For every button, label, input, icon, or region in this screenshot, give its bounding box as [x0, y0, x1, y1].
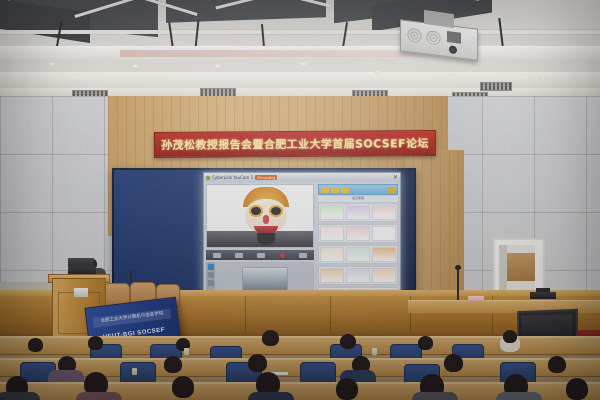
effect-thumbnail[interactable] — [372, 205, 396, 220]
ceiling-truss-rail — [0, 30, 600, 34]
doorway-interior-view — [505, 253, 535, 281]
av-equipment — [530, 292, 556, 299]
app-title-text: CyberLink YouCam 5 — [212, 175, 253, 180]
drink-cup — [184, 348, 189, 355]
audience-shoulders — [496, 392, 542, 400]
thumbnail-row[interactable] — [318, 266, 398, 285]
effect-thumbnail[interactable] — [346, 226, 370, 241]
downlight — [132, 64, 139, 68]
downlight — [214, 64, 221, 68]
effect-thumbnail[interactable] — [346, 205, 370, 220]
effect-thumbnail[interactable] — [346, 247, 370, 262]
projected-app-window: CyberLink YouCam 5 Recording ✕ — [203, 172, 401, 298]
av-equipment-top — [536, 288, 550, 292]
app-logo-icon — [206, 176, 210, 180]
library-tab-frames[interactable] — [208, 272, 214, 278]
downlight — [300, 62, 307, 66]
close-icon[interactable]: ✕ — [393, 175, 398, 181]
audience-head — [548, 356, 566, 373]
audience-head — [164, 356, 182, 373]
screen-bezel-right — [400, 170, 412, 298]
audience-head — [503, 330, 517, 343]
audience-shoulders — [0, 392, 40, 400]
search-bar[interactable] — [318, 184, 398, 195]
library-tab-effects[interactable] — [208, 264, 214, 270]
audience-shoulders — [76, 392, 122, 400]
app-right-column: 最近使用 — [316, 182, 400, 297]
effect-thumbnail[interactable] — [320, 247, 344, 262]
app-body: 最近使用 — [204, 182, 400, 297]
effect-thumbnail[interactable] — [372, 268, 396, 283]
ceiling-hanger-rod — [195, 20, 200, 48]
thumbnail-row[interactable] — [318, 245, 398, 264]
table-microphone-stem — [457, 268, 459, 300]
thumbnail-row[interactable] — [318, 224, 398, 243]
projector-panel — [447, 31, 461, 44]
ceiling-hanger-rod — [342, 22, 348, 48]
snapshot-icon[interactable] — [213, 253, 221, 258]
downlight — [374, 70, 381, 74]
table-papers — [468, 296, 484, 301]
effect-thumbnail[interactable] — [372, 247, 396, 262]
audience-head — [262, 330, 279, 346]
effects-icon[interactable] — [235, 253, 243, 258]
capture-icon[interactable] — [257, 253, 265, 258]
mask-nose — [263, 215, 269, 224]
light-fixture — [480, 82, 512, 91]
record-icon[interactable] — [280, 253, 285, 258]
downlight — [48, 62, 55, 66]
audience-head — [418, 336, 433, 350]
downlight — [448, 74, 455, 78]
audience-shoulders — [248, 392, 294, 400]
lecture-hall-photo: 孙茂松教授报告会暨合肥工业大学首届SOCSEF论坛 CyberLink YouC… — [0, 0, 600, 400]
audience-head — [340, 334, 356, 349]
microphone-icon — [455, 265, 461, 270]
ceiling-hanger-rod — [261, 24, 265, 48]
mask-eye-left — [251, 207, 261, 215]
projector-vent-icon — [407, 27, 422, 44]
stage-paper — [74, 288, 88, 297]
drink-cup — [132, 368, 137, 375]
app-left-column — [204, 182, 316, 297]
projector-lens-icon — [449, 45, 457, 54]
podium-microphone — [130, 270, 132, 282]
library-tab-filters[interactable] — [208, 280, 214, 286]
audience-head — [444, 354, 463, 372]
thumbnail-row[interactable] — [318, 203, 398, 222]
audience-head — [88, 336, 103, 350]
webcam-preview — [206, 184, 314, 248]
banner-text: 孙茂松教授报告会暨合肥工业大学首届SOCSEF论坛 — [161, 135, 429, 153]
effect-thumbnail[interactable] — [320, 226, 344, 241]
audience-seat — [120, 362, 156, 384]
audience-seat — [300, 362, 336, 384]
audience-head — [566, 378, 588, 400]
audience-head — [28, 338, 43, 352]
audience-head — [336, 378, 358, 400]
search-icon[interactable] — [321, 187, 329, 193]
effect-thumbnail[interactable] — [320, 268, 344, 283]
face-mask-effect — [239, 187, 293, 245]
camera-controls-bar[interactable] — [206, 250, 314, 260]
mask-chin — [257, 233, 275, 245]
effect-thumbnail[interactable] — [372, 226, 396, 241]
ceiling-hanger-rod — [168, 22, 174, 48]
effect-thumbnail[interactable] — [320, 205, 344, 220]
event-banner: 孙茂松教授报告会暨合肥工业大学首届SOCSEF论坛 — [154, 130, 436, 158]
mask-eye-right — [271, 207, 281, 215]
sort-icon[interactable] — [341, 187, 349, 193]
fullscreen-icon[interactable] — [299, 253, 307, 258]
audience-shoulders — [412, 392, 458, 400]
mask-mouth — [254, 226, 278, 233]
settings-icon[interactable] — [387, 187, 395, 193]
audience-head — [248, 354, 267, 372]
ceiling — [0, 0, 600, 100]
filter-icon[interactable] — [331, 187, 339, 193]
projector-vent-icon — [426, 29, 441, 46]
drink-cup — [372, 348, 377, 355]
app-status-badge: Recording — [255, 175, 277, 180]
category-label: 最近使用 — [318, 196, 398, 202]
downlight — [540, 76, 547, 80]
audience-head — [172, 376, 194, 398]
app-titlebar: CyberLink YouCam 5 Recording ✕ — [204, 173, 400, 182]
effect-thumbnail[interactable] — [346, 268, 370, 283]
